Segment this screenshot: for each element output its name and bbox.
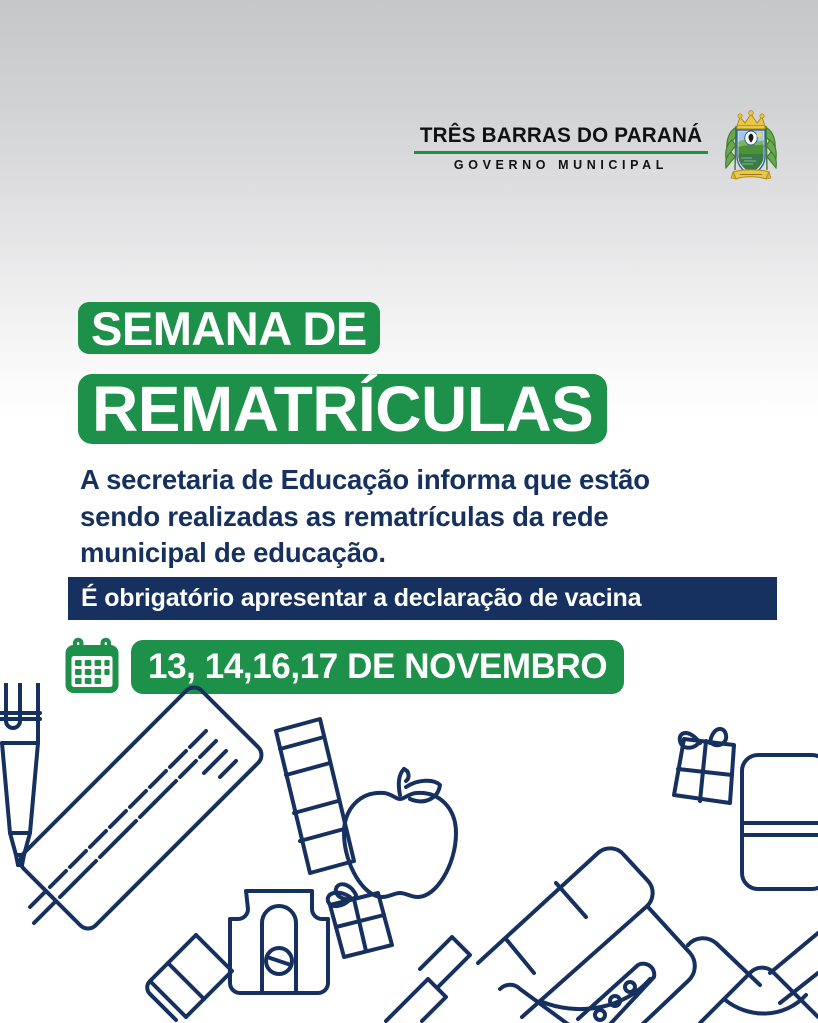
body-line-3: municipal de educação.	[80, 535, 750, 572]
notebook-icon	[700, 968, 818, 1023]
gift-box-right-icon	[674, 729, 734, 803]
stapler-icon	[478, 848, 818, 1023]
pencil-sharpener-icon	[230, 891, 328, 993]
wordmark-divider	[414, 151, 708, 154]
eraser-icon	[742, 755, 818, 889]
wordmark-city-name: TRÊS BARRAS DO PARANÁ	[420, 124, 702, 147]
coat-of-arms-icon	[722, 110, 780, 186]
title-line-1-badge: SEMANA DE	[78, 302, 380, 354]
wordmark: TRÊS BARRAS DO PARANÁ GOVERNO MUNICIPAL	[414, 124, 708, 171]
body-line-2: sendo realizadas as rematrículas da rede	[80, 499, 750, 536]
pen-icon	[0, 683, 40, 865]
school-supplies-line-art	[0, 683, 818, 1023]
body-line-1: A secretaria de Educação informa que est…	[80, 462, 750, 499]
vaccine-requirement-banner: É obrigatório apresentar a declaração de…	[68, 577, 777, 620]
school-supplies-illustration	[0, 683, 818, 1023]
glue-stick-icon	[276, 719, 354, 873]
eraser-bar-icon	[147, 935, 232, 1020]
crayon-icon	[386, 937, 470, 1021]
body-paragraph: A secretaria de Educação informa que est…	[80, 462, 750, 572]
perforated-bar-icon	[578, 964, 654, 1023]
poster: TRÊS BARRAS DO PARANÁ GOVERNO MUNICIPAL	[0, 0, 818, 1023]
ruler-icon	[21, 688, 262, 929]
title-line-2-badge: REMATRÍCULAS	[78, 374, 607, 444]
wordmark-subtitle: GOVERNO MUNICIPAL	[454, 159, 668, 172]
municipal-header: TRÊS BARRAS DO PARANÁ GOVERNO MUNICIPAL	[414, 110, 780, 186]
apple-icon	[344, 769, 456, 897]
